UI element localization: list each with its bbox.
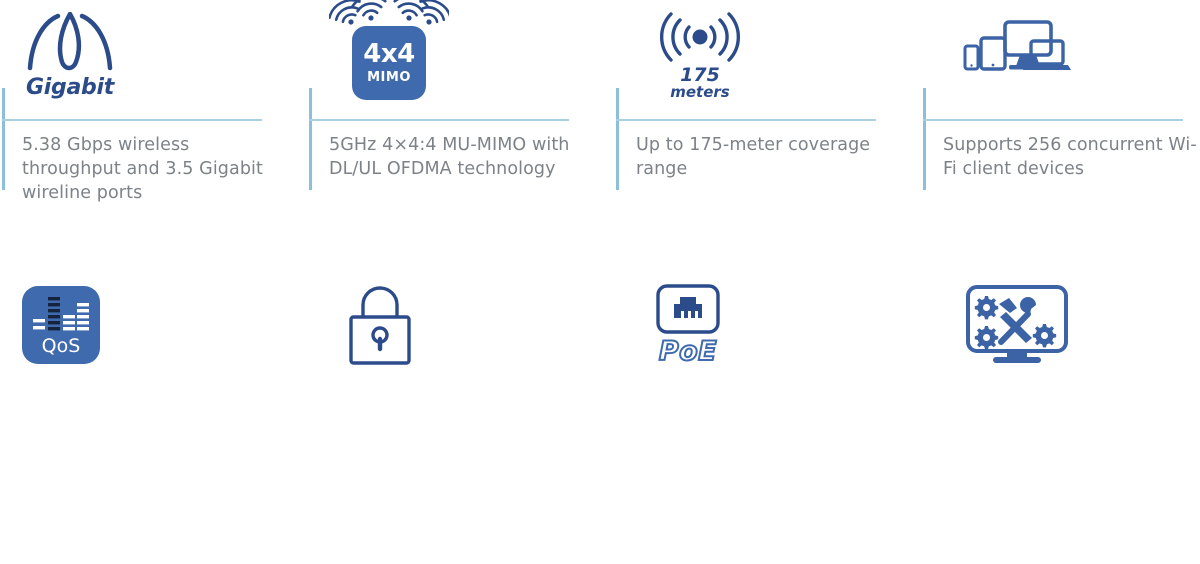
qos-icon-area: QoS [22,280,277,370]
gigabit-wordmark: Gigabit [26,75,114,100]
monitor-tools-controller-icon [965,284,1069,366]
poe-icon-area: PoE [636,280,891,370]
controller-icon-area [943,280,1198,370]
coverage-range-icon [658,11,742,65]
feature-caption: Up to 175-meter coverage range [636,133,898,181]
feature-card-controller: Embedded controller can manage up to 50 … [921,260,1200,564]
feature-card-poe: PoE Self power adaptation upon auto dete… [614,260,914,564]
feature-caption: Supports 256 concurrent Wi-Fi client dev… [943,133,1200,181]
feature-card-gigabit: Gigabit 5.38 Gbps wireless throughput an… [0,0,300,260]
security-icon-area [329,280,584,370]
feature-card-qos: QoS Advanced QoS to ensure real-time per… [0,260,300,564]
feature-card-security: Anti-hacking secure boot and critical da… [307,260,607,564]
mimo-chip-secondary-label: MIMO [367,70,411,85]
divider-horizontal-line [616,119,876,121]
feature-card-mimo: 4x4 MIMO 5GHz 4×4:4 MU-MIMO with DL/UL O… [307,0,607,260]
multi-device-clients-icon [963,18,1075,74]
divider-horizontal-line [309,119,569,121]
coverage-distance-label: 175 [680,66,720,84]
accent-vertical-line [923,88,926,190]
feature-card-coverage: 175 meters Up to 175-meter coverage rang… [614,0,914,260]
qos-chip: QoS [22,286,100,364]
divider-horizontal-line [923,119,1183,121]
mimo-icon-area: 4x4 MIMO [329,0,584,100]
divider-horizontal-line [2,119,262,121]
gigabit-icon-area: Gigabit [22,0,277,100]
poe-wordmark: PoE [659,336,717,367]
coverage-icon-area: 175 meters [636,0,891,100]
padlock-icon [341,283,419,367]
gigabit-throughput-icon [22,12,118,74]
feature-caption: 5.38 Gbps wireless throughput and 3.5 Gi… [22,133,284,205]
accent-vertical-line [309,88,312,190]
clients-icon-area [943,0,1198,92]
qos-chip-label: QoS [42,337,81,356]
feature-card-clients: Supports 256 concurrent Wi-Fi client dev… [921,0,1200,260]
poe-ethernet-port-icon [656,284,720,334]
feature-caption: 5GHz 4×4:4 MU-MIMO with DL/UL OFDMA tech… [329,133,591,181]
qos-equalizer-icon [32,295,90,335]
feature-grid: Gigabit 5.38 Gbps wireless throughput an… [0,0,1200,564]
accent-vertical-line [616,88,619,190]
mimo-chip: 4x4 MIMO [352,26,426,100]
mimo-chip-primary-label: 4x4 [363,41,414,67]
accent-vertical-line [2,88,5,190]
coverage-unit-label: meters [670,84,729,100]
